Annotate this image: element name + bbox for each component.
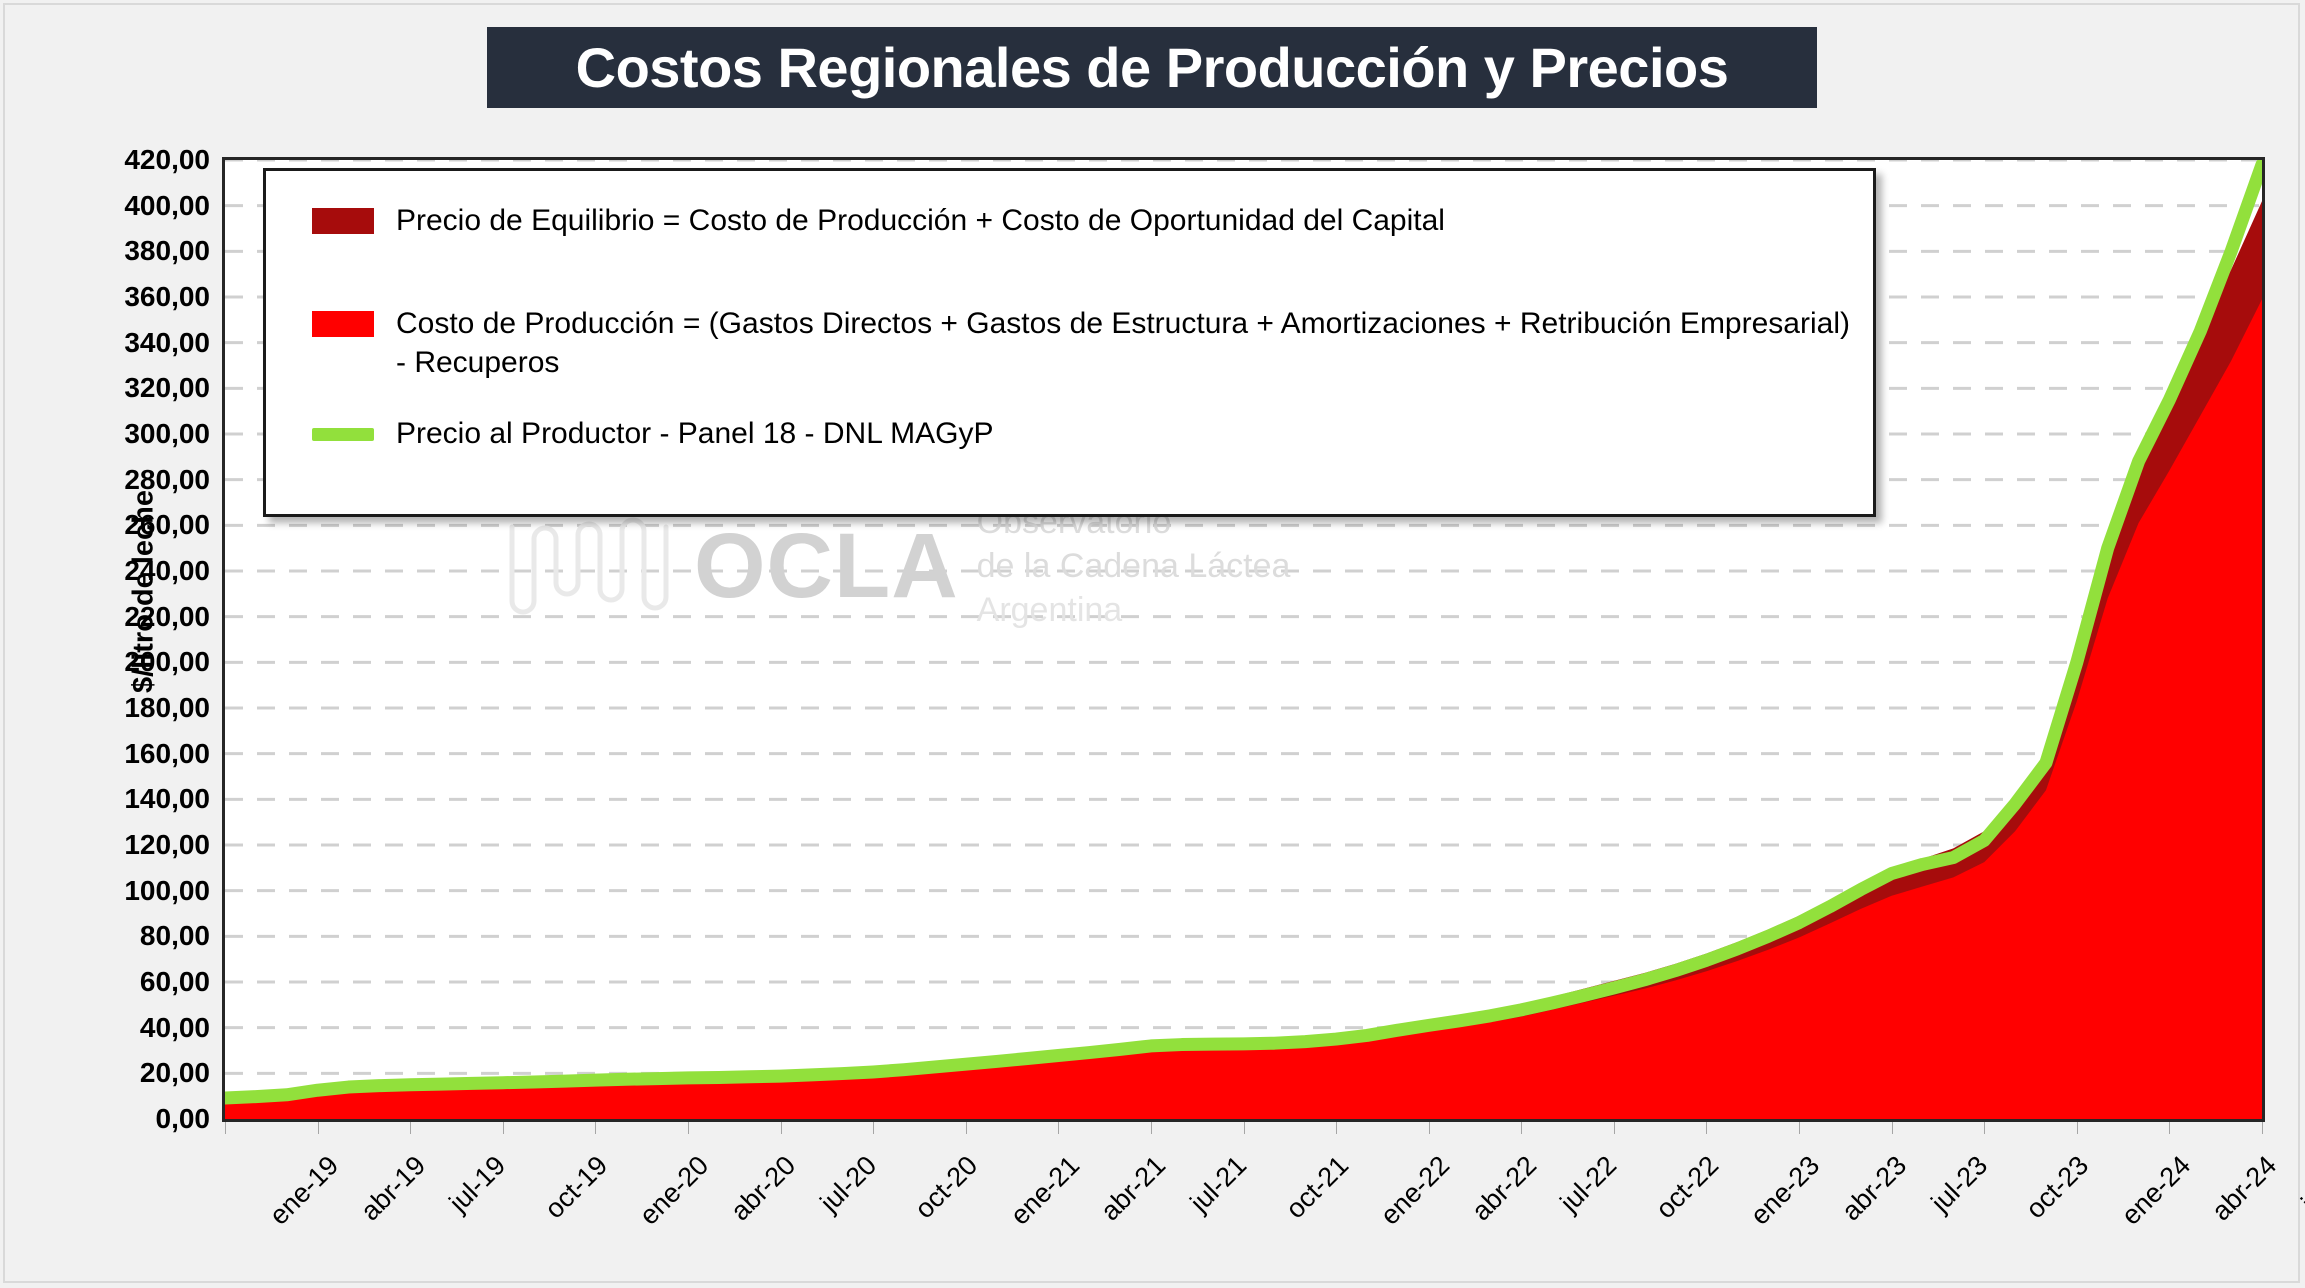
x-axis-tick-label: ene-24: [2115, 1150, 2196, 1231]
x-axis-tick-label: jul-19: [444, 1150, 513, 1219]
y-axis-tick-label: 160,00: [60, 738, 210, 770]
y-axis-tick-label: 120,00: [60, 829, 210, 861]
y-axis-tick-label: 340,00: [60, 327, 210, 359]
legend-line-producer-price: [312, 428, 374, 441]
y-axis-tick-label: 40,00: [60, 1012, 210, 1044]
x-axis-tick-mark: [318, 1122, 319, 1134]
y-axis-tick-label: 380,00: [60, 235, 210, 267]
x-axis-tick-mark: [1892, 1122, 1893, 1134]
x-axis-tick-mark: [1984, 1122, 1985, 1134]
x-axis-tick-label: ene-23: [1745, 1150, 1826, 1231]
x-axis-tick-label: jul-23: [1925, 1150, 1994, 1219]
x-axis-tick-label: oct-22: [1650, 1150, 1725, 1225]
y-axis-tick-label: 200,00: [60, 646, 210, 678]
x-axis-tick-label: jul-22: [1555, 1150, 1624, 1219]
y-axis-tick-label: 100,00: [60, 875, 210, 907]
x-axis-tick-mark: [873, 1122, 874, 1134]
legend-item-equilibrium[interactable]: Precio de Equilibrio = Costo de Producci…: [312, 201, 1445, 240]
legend-item-producer-price[interactable]: Precio al Productor - Panel 18 - DNL MAG…: [312, 414, 993, 453]
legend-swatch-cost: [312, 311, 374, 337]
y-axis-tick-label: 20,00: [60, 1057, 210, 1089]
y-axis-tick-label: 220,00: [60, 601, 210, 633]
x-axis-tick-mark: [2077, 1122, 2078, 1134]
x-axis-tick-mark: [595, 1122, 596, 1134]
legend-label-equilibrium: Precio de Equilibrio = Costo de Producci…: [396, 201, 1445, 240]
y-axis-tick-label: 80,00: [60, 920, 210, 952]
x-axis-tick-mark: [1799, 1122, 1800, 1134]
x-axis-tick-mark: [2169, 1122, 2170, 1134]
chart-legend: Precio de Equilibrio = Costo de Producci…: [263, 168, 1876, 517]
x-axis-tick-mark: [781, 1122, 782, 1134]
x-axis-tick-mark: [1614, 1122, 1615, 1134]
x-axis-tick-label: abr-23: [1836, 1150, 1913, 1227]
x-axis-tick-label: abr-19: [354, 1150, 431, 1227]
x-axis-tick-mark: [1706, 1122, 1707, 1134]
y-axis-tick-label: 420,00: [60, 144, 210, 176]
x-axis-tick-label: jul-20: [814, 1150, 883, 1219]
x-axis-tick-label: ene-20: [634, 1150, 715, 1231]
legend-label-cost: Costo de Producción = (Gastos Directos +…: [396, 304, 1856, 382]
chart-title-banner: Costos Regionales de Producción y Precio…: [487, 27, 1817, 108]
x-axis-tick-label: oct-20: [909, 1150, 984, 1225]
y-axis-tick-label: 60,00: [60, 966, 210, 998]
x-axis-tick-label: ene-22: [1375, 1150, 1456, 1231]
x-axis-tick-mark: [1244, 1122, 1245, 1134]
y-axis-tick-label: 300,00: [60, 418, 210, 450]
y-axis-tick-label: 0,00: [60, 1103, 210, 1135]
x-axis-tick-label: ene-19: [264, 1150, 345, 1231]
y-axis-tick-label: 360,00: [60, 281, 210, 313]
y-axis-tick-label: 180,00: [60, 692, 210, 724]
x-axis-tick-label: oct-23: [2020, 1150, 2095, 1225]
y-axis-tick-label: 320,00: [60, 372, 210, 404]
x-axis-tick-label: abr-21: [1095, 1150, 1172, 1227]
x-axis-tick-label: abr-22: [1466, 1150, 1543, 1227]
x-axis-tick-mark: [1336, 1122, 1337, 1134]
y-axis-tick-labels: 420,00400,00380,00360,00340,00320,00300,…: [60, 157, 210, 1122]
x-axis-tick-mark: [688, 1122, 689, 1134]
x-axis-tick-mark: [225, 1122, 226, 1134]
y-axis-tick-label: 140,00: [60, 783, 210, 815]
y-axis-tick-label: 400,00: [60, 190, 210, 222]
legend-swatch-equilibrium: [312, 208, 374, 234]
y-axis-tick-label: 240,00: [60, 555, 210, 587]
x-axis-tick-mark: [1151, 1122, 1152, 1134]
x-axis-tick-label: abr-20: [725, 1150, 802, 1227]
x-axis-tick-mark: [966, 1122, 967, 1134]
x-axis-tick-mark: [410, 1122, 411, 1134]
legend-label-producer-price: Precio al Productor - Panel 18 - DNL MAG…: [396, 414, 993, 453]
x-axis-tick-mark: [2262, 1122, 2263, 1134]
x-axis-tick-label: ene-21: [1004, 1150, 1085, 1231]
x-axis-tick-label: oct-19: [539, 1150, 614, 1225]
x-axis-tick-mark: [1058, 1122, 1059, 1134]
y-axis-tick-label: 260,00: [60, 509, 210, 541]
x-axis-tick-mark: [1521, 1122, 1522, 1134]
x-axis-tick-mark: [1429, 1122, 1430, 1134]
page-title: Costos Regionales de Producción y Precio…: [576, 35, 1729, 100]
y-axis-tick-label: 280,00: [60, 464, 210, 496]
x-axis-tick-labels: ene-19abr-19jul-19oct-19ene-20abr-20jul-…: [222, 1128, 2265, 1278]
x-axis-tick-mark: [503, 1122, 504, 1134]
legend-item-cost[interactable]: Costo de Producción = (Gastos Directos +…: [312, 304, 1856, 382]
x-axis-tick-label: jul-21: [1184, 1150, 1253, 1219]
x-axis-tick-label: oct-21: [1279, 1150, 1354, 1225]
